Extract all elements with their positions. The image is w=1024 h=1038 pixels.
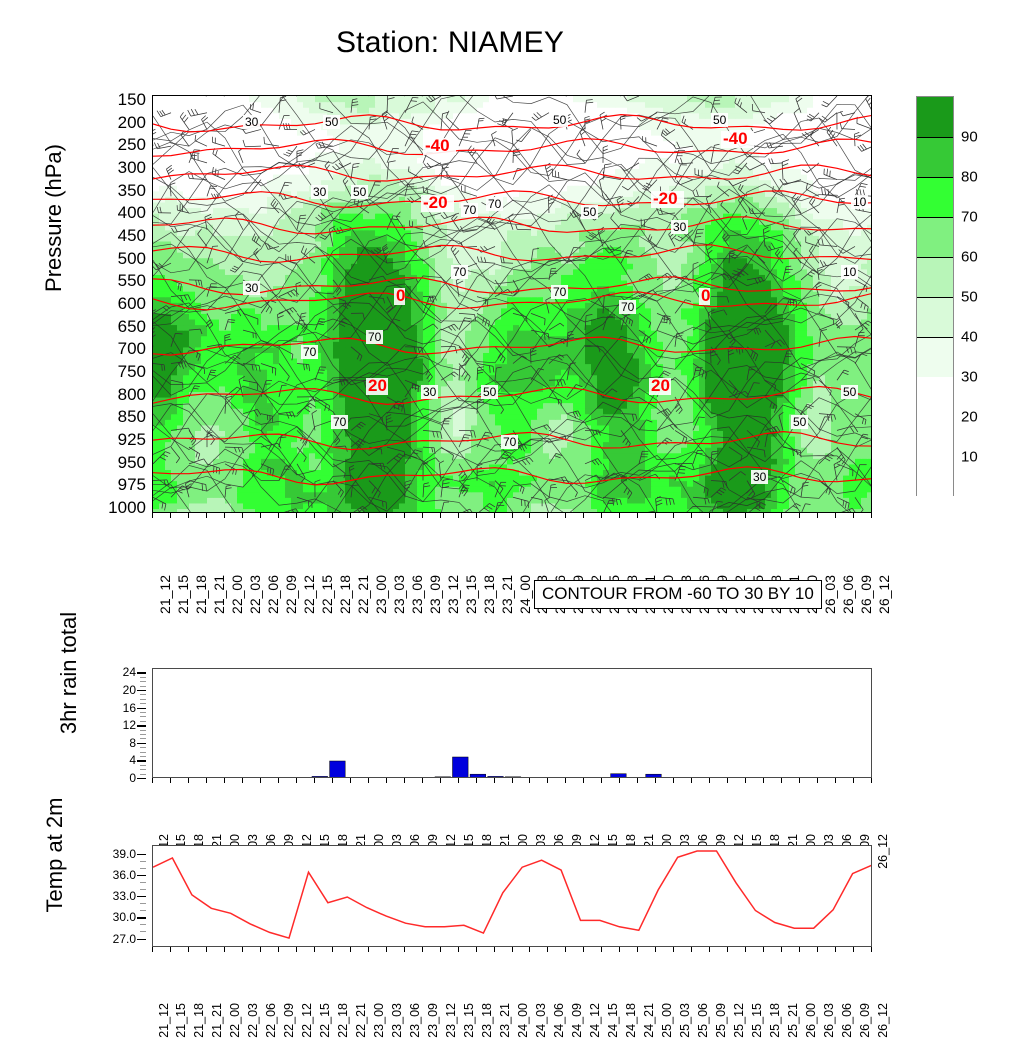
main-x-tick <box>152 513 153 518</box>
colorbar-tick-label: 40 <box>961 329 978 346</box>
temp-x-tick-label: 24_00 <box>516 1003 530 1038</box>
main-x-tick-label: 23_21 <box>499 575 515 614</box>
temp-plot-area <box>152 845 872 947</box>
rain-y-tick-label: 16 <box>123 701 136 715</box>
temp-x-tick-label: 22_15 <box>318 1003 332 1038</box>
rain-y-tick <box>137 778 146 779</box>
rain-x-tick <box>817 778 818 783</box>
temp-x-tick-label: 24_06 <box>552 1003 566 1038</box>
rain-x-tick <box>619 778 620 783</box>
main-x-tick <box>691 513 692 518</box>
main-x-tick <box>799 513 800 518</box>
temp-x-tick <box>476 947 477 952</box>
temp-x-tick <box>188 947 189 952</box>
temp-x-axis-labels: 21_1221_1521_1821_2122_0022_0322_0622_09… <box>152 947 872 1009</box>
main-y-tick-label: 300 <box>118 158 146 178</box>
rain-x-tick <box>853 778 854 783</box>
temp-x-tick-label: 24_09 <box>570 1003 584 1038</box>
main-x-tick <box>871 513 872 518</box>
main-x-tick-label: 24_00 <box>517 575 533 614</box>
temp-x-tick <box>619 947 620 952</box>
main-y-tick-label: 975 <box>118 475 146 495</box>
temp-x-tick-label: 25_00 <box>660 1003 674 1038</box>
main-y-tick-label: 650 <box>118 317 146 337</box>
rain-x-tick <box>673 778 674 783</box>
rain-x-tick <box>278 778 279 783</box>
rain-x-tick <box>781 778 782 783</box>
temp-y-tick-label: 30.0 <box>113 910 136 924</box>
rain-x-tick <box>691 778 692 783</box>
temp-y-tick-label: 36.0 <box>113 868 136 882</box>
rain-y-tick <box>137 672 146 673</box>
temp-x-tick-label: 22_06 <box>264 1003 278 1038</box>
rain-x-tick <box>152 778 153 783</box>
main-y-axis-labels: 1502002503003504004505005506006507007508… <box>60 95 146 513</box>
temp-x-tick <box>170 947 171 952</box>
main-x-axis-labels: 21_1221_1521_1821_2122_0022_0322_0622_09… <box>152 513 872 583</box>
main-x-tick <box>655 513 656 518</box>
main-x-tick <box>368 513 369 518</box>
rain-x-tick <box>655 778 656 783</box>
rain-y-tick-label: 12 <box>123 718 136 732</box>
rain-x-tick <box>529 778 530 783</box>
temp-x-tick-label: 22_12 <box>300 1003 314 1038</box>
temp-y-tick <box>137 896 146 897</box>
main-x-tick <box>494 513 495 518</box>
main-x-tick <box>835 513 836 518</box>
rain-y-minor-tick <box>140 694 146 695</box>
rain-y-tick-label: 24 <box>123 665 136 679</box>
temp-x-tick <box>512 947 513 952</box>
temp-x-tick <box>422 947 423 952</box>
main-x-tick-label: 22_15 <box>319 575 335 614</box>
temp-x-tick <box>853 947 854 952</box>
main-x-tick <box>763 513 764 518</box>
rain-y-minor-tick <box>140 716 146 717</box>
temp-x-tick <box>583 947 584 952</box>
main-x-tick <box>637 513 638 518</box>
colorbar-tick-label: 10 <box>961 449 978 466</box>
colorbar-band <box>917 457 953 497</box>
main-x-tick <box>853 513 854 518</box>
temp-x-tick <box>781 947 782 952</box>
temp-x-tick <box>206 947 207 952</box>
temp-x-tick-label: 22_03 <box>246 1003 260 1038</box>
main-x-tick-label: 23_06 <box>409 575 425 614</box>
main-x-tick <box>188 513 189 518</box>
temp-x-tick <box>368 947 369 952</box>
temp-x-tick-label: 22_09 <box>282 1003 296 1038</box>
rain-x-tick <box>188 778 189 783</box>
rain-x-tick <box>547 778 548 783</box>
rain-x-tick <box>727 778 728 783</box>
temp-y-tick <box>137 917 146 918</box>
temp-x-tick-label: 23_18 <box>480 1003 494 1038</box>
temp-x-tick <box>314 947 315 952</box>
rain-y-tick <box>137 690 146 691</box>
colorbar-tick-label: 60 <box>961 249 978 266</box>
temp-x-tick-label: 21_18 <box>192 1003 206 1038</box>
main-x-tick <box>314 513 315 518</box>
temp-x-tick-label: 25_15 <box>750 1003 764 1038</box>
rain-x-tick <box>871 778 872 783</box>
colorbar-band <box>917 417 953 457</box>
main-x-tick-label: 22_18 <box>337 575 353 614</box>
main-y-tick-label: 450 <box>118 226 146 246</box>
temp-x-tick <box>799 947 800 952</box>
temp-x-tick <box>529 947 530 952</box>
temp-x-tick-label: 24_03 <box>534 1003 548 1038</box>
temperature-chart <box>152 845 872 947</box>
main-x-tick <box>242 513 243 518</box>
temp-x-tick <box>332 947 333 952</box>
temp-x-tick-label: 22_00 <box>228 1003 242 1038</box>
rain-x-tick <box>386 778 387 783</box>
main-x-tick <box>727 513 728 518</box>
colorbar-divider <box>917 297 953 298</box>
temp-x-tick <box>152 947 153 952</box>
main-x-tick-label: 21_21 <box>211 575 227 614</box>
rain-y-tick-label: 8 <box>129 736 136 750</box>
colorbar-band <box>917 257 953 297</box>
temp-x-tick-label: 25_06 <box>696 1003 710 1038</box>
rain-x-tick <box>206 778 207 783</box>
rain-x-tick <box>637 778 638 783</box>
rain-x-tick <box>494 778 495 783</box>
temp-x-tick <box>386 947 387 952</box>
main-x-tick-label: 26_09 <box>858 575 874 614</box>
main-x-tick <box>278 513 279 518</box>
colorbar-tick-label: 50 <box>961 289 978 306</box>
main-x-tick-label: 23_09 <box>427 575 443 614</box>
rain-y-minor-tick <box>140 712 146 713</box>
rain-y-minor-tick <box>140 703 146 704</box>
temp-x-tick-label: 23_21 <box>498 1003 512 1038</box>
temp-x-tick-label: 21_12 <box>157 1003 171 1038</box>
main-x-tick <box>260 513 261 518</box>
main-x-tick-label: 23_15 <box>463 575 479 614</box>
main-x-tick-label: 26_06 <box>840 575 856 614</box>
temp-y-minor-tick <box>140 903 146 904</box>
temp-x-tick <box>637 947 638 952</box>
main-x-tick-label: 23_00 <box>373 575 389 614</box>
temp-y-tick-label: 27.0 <box>113 932 136 946</box>
rain-y-minor-tick <box>140 765 146 766</box>
rain-x-tick <box>296 778 297 783</box>
rain-chart <box>152 668 872 778</box>
main-y-tick-label: 950 <box>118 453 146 473</box>
temp-x-tick-label: 24_12 <box>588 1003 602 1038</box>
rain-x-tick <box>242 778 243 783</box>
main-x-tick-label: 22_21 <box>355 575 371 614</box>
rain-x-tick <box>332 778 333 783</box>
main-x-tick <box>817 513 818 518</box>
rain-x-tick <box>350 778 351 783</box>
main-y-tick-label: 500 <box>118 249 146 269</box>
main-x-tick <box>745 513 746 518</box>
temp-y-minor-tick <box>140 910 146 911</box>
temp-y-tick-label: 33.0 <box>113 889 136 903</box>
main-y-tick-label: 750 <box>118 362 146 382</box>
temp-x-tick <box>565 947 566 952</box>
temp-y-minor-tick <box>140 889 146 890</box>
rain-x-tick <box>368 778 369 783</box>
main-x-tick <box>332 513 333 518</box>
rain-x-tick <box>512 778 513 783</box>
rain-y-tick <box>137 725 146 726</box>
humidity-colorbar: 908070605040302010 <box>916 96 954 496</box>
main-y-tick-label: 1000 <box>108 498 146 518</box>
temp-x-tick <box>709 947 710 952</box>
temp-x-tick <box>296 947 297 952</box>
temp-x-tick <box>224 947 225 952</box>
temp-y-minor-tick <box>140 868 146 869</box>
rain-x-tick <box>440 778 441 783</box>
colorbar-tick-label: 70 <box>961 209 978 226</box>
temp-y-tick <box>137 939 146 940</box>
rain-x-tick <box>260 778 261 783</box>
main-x-tick <box>170 513 171 518</box>
rain-y-minor-tick <box>140 769 146 770</box>
temp-x-tick <box>458 947 459 952</box>
main-y-tick-label: 400 <box>118 203 146 223</box>
rain-y-tick <box>137 760 146 761</box>
main-x-tick <box>565 513 566 518</box>
colorbar-band <box>917 177 953 217</box>
temp-x-tick-label: 21_21 <box>210 1003 224 1038</box>
rain-y-tick <box>137 743 146 744</box>
temp-x-tick <box>817 947 818 952</box>
rain-x-tick <box>763 778 764 783</box>
page-title: Station: NIAMEY <box>0 26 900 60</box>
rain-x-tick <box>170 778 171 783</box>
rain-x-tick <box>799 778 800 783</box>
temp-x-tick <box>494 947 495 952</box>
rain-plot-area <box>152 668 872 778</box>
rain-x-tick-label: 26_12 <box>876 834 890 869</box>
main-x-tick <box>422 513 423 518</box>
temp-x-tick-label: 26_00 <box>804 1003 818 1038</box>
main-x-tick <box>619 513 620 518</box>
rain-y-minor-tick <box>140 752 146 753</box>
colorbar-band <box>917 337 953 377</box>
temp-x-tick-label: 24_18 <box>624 1003 638 1038</box>
main-x-tick-label: 22_09 <box>283 575 299 614</box>
temp-x-tick-label: 25_12 <box>732 1003 746 1038</box>
rain-y-minor-tick <box>140 756 146 757</box>
temp-x-tick-label: 25_18 <box>768 1003 782 1038</box>
temp-x-tick-label: 23_15 <box>462 1003 476 1038</box>
main-x-tick <box>206 513 207 518</box>
main-y-tick-label: 150 <box>118 90 146 110</box>
temp-x-tick <box>691 947 692 952</box>
rain-y-minor-tick <box>140 699 146 700</box>
temp-x-tick <box>278 947 279 952</box>
colorbar-band <box>917 297 953 337</box>
temp-x-tick-label: 22_18 <box>336 1003 350 1038</box>
colorbar-divider <box>917 257 953 258</box>
main-x-tick-label: 21_18 <box>193 575 209 614</box>
main-x-tick-label: 23_18 <box>481 575 497 614</box>
main-x-tick-label: 22_00 <box>229 575 245 614</box>
colorbar-tick-label: 80 <box>961 169 978 186</box>
rain-y-minor-tick <box>140 738 146 739</box>
colorbar-tick-label: 30 <box>961 369 978 386</box>
temp-x-tick-label: 25_09 <box>714 1003 728 1038</box>
colorbar-band <box>917 377 953 417</box>
temp-x-tick <box>655 947 656 952</box>
main-x-tick <box>547 513 548 518</box>
temp-x-tick <box>547 947 548 952</box>
rain-y-axis-labels: 04812162024 <box>60 668 146 778</box>
temp-x-tick-label: 25_21 <box>786 1003 800 1038</box>
main-x-tick-label: 21_15 <box>175 575 191 614</box>
main-y-tick-label: 250 <box>118 135 146 155</box>
main-x-tick <box>601 513 602 518</box>
main-x-tick <box>296 513 297 518</box>
main-x-tick <box>781 513 782 518</box>
main-x-tick-label: 22_03 <box>247 575 263 614</box>
colorbar-divider <box>917 337 953 338</box>
rain-y-tick <box>137 708 146 709</box>
rain-x-tick <box>422 778 423 783</box>
colorbar-divider <box>917 177 953 178</box>
rain-x-axis-labels: 21_1221_1521_1821_2122_0022_0322_0622_09… <box>152 778 872 840</box>
rain-y-tick-label: 4 <box>129 753 136 767</box>
main-y-tick-label: 800 <box>118 385 146 405</box>
rain-y-minor-tick <box>140 677 146 678</box>
temp-x-tick-label: 26_06 <box>840 1003 854 1038</box>
main-x-tick-label: 26_03 <box>822 575 838 614</box>
temp-x-tick <box>871 947 872 952</box>
main-x-tick <box>583 513 584 518</box>
temp-x-tick-label: 26_12 <box>876 1003 890 1038</box>
rain-x-tick <box>565 778 566 783</box>
main-x-tick <box>476 513 477 518</box>
temp-x-tick-label: 23_09 <box>426 1003 440 1038</box>
main-x-tick <box>386 513 387 518</box>
rain-x-tick <box>404 778 405 783</box>
main-x-tick <box>404 513 405 518</box>
temp-x-tick-label: 24_15 <box>606 1003 620 1038</box>
main-x-tick <box>458 513 459 518</box>
temp-x-tick-label: 26_03 <box>822 1003 836 1038</box>
temp-x-tick <box>440 947 441 952</box>
main-x-tick-label: 23_12 <box>445 575 461 614</box>
temp-x-tick <box>404 947 405 952</box>
rain-y-minor-tick <box>140 747 146 748</box>
temp-y-minor-tick <box>140 924 146 925</box>
main-y-tick-label: 600 <box>118 294 146 314</box>
main-plot-area: -40-40-20-200020203050505030503070705030… <box>152 95 872 513</box>
temp-x-tick-label: 22_21 <box>354 1003 368 1038</box>
colorbar-tick-label: 90 <box>961 129 978 146</box>
rain-y-tick-label: 20 <box>123 683 136 697</box>
temp-x-tick-label: 23_03 <box>390 1003 404 1038</box>
colorbar-band <box>917 137 953 177</box>
rain-y-minor-tick <box>140 734 146 735</box>
rain-x-tick <box>314 778 315 783</box>
temp-x-tick-label: 24_21 <box>642 1003 656 1038</box>
rain-y-minor-tick <box>140 730 146 731</box>
rain-x-tick <box>458 778 459 783</box>
temp-y-minor-tick <box>140 882 146 883</box>
temp-x-tick <box>763 947 764 952</box>
rain-x-tick <box>601 778 602 783</box>
rain-x-tick <box>224 778 225 783</box>
main-y-tick-label: 550 <box>118 271 146 291</box>
rain-y-minor-tick <box>140 774 146 775</box>
main-x-tick <box>512 513 513 518</box>
main-y-tick-label: 700 <box>118 339 146 359</box>
main-x-tick <box>673 513 674 518</box>
temp-x-tick-label: 21_15 <box>174 1003 188 1038</box>
rain-x-tick <box>835 778 836 783</box>
rain-x-tick <box>476 778 477 783</box>
colorbar-divider <box>917 137 953 138</box>
temp-x-tick-label: 26_09 <box>858 1003 872 1038</box>
temp-x-tick <box>727 947 728 952</box>
temp-y-axis-labels: 27.030.033.036.039.0 <box>60 845 146 947</box>
temp-x-tick <box>242 947 243 952</box>
main-x-tick-label: 21_12 <box>157 575 173 614</box>
main-x-tick-label: 23_03 <box>391 575 407 614</box>
temp-x-tick <box>260 947 261 952</box>
temp-x-tick <box>745 947 746 952</box>
rain-y-minor-tick <box>140 681 146 682</box>
main-x-tick-label: 22_06 <box>265 575 281 614</box>
main-y-tick-label: 350 <box>118 181 146 201</box>
temp-y-minor-tick <box>140 861 146 862</box>
temp-x-tick <box>350 947 351 952</box>
main-x-tick <box>224 513 225 518</box>
main-x-tick-label: 22_12 <box>301 575 317 614</box>
main-y-tick-label: 925 <box>118 430 146 450</box>
colorbar-tick-label: 20 <box>961 409 978 426</box>
temp-y-tick <box>137 854 146 855</box>
temp-x-tick <box>673 947 674 952</box>
main-y-tick-label: 850 <box>118 407 146 427</box>
colorbar-band <box>917 97 953 137</box>
rain-x-tick <box>745 778 746 783</box>
rain-y-minor-tick <box>140 686 146 687</box>
temp-y-minor-tick <box>140 931 146 932</box>
temp-x-tick <box>601 947 602 952</box>
time-height-cross-section: -40-40-20-200020203050505030503070705030… <box>152 95 872 513</box>
main-x-tick <box>709 513 710 518</box>
temp-x-tick-label: 25_03 <box>678 1003 692 1038</box>
main-x-tick <box>440 513 441 518</box>
rain-x-tick <box>583 778 584 783</box>
temp-x-tick <box>835 947 836 952</box>
temp-y-tick-label: 39.0 <box>113 847 136 861</box>
colorbar-band <box>917 217 953 257</box>
temp-y-tick <box>137 875 146 876</box>
temp-x-tick-label: 23_12 <box>444 1003 458 1038</box>
temp-x-tick-label: 23_06 <box>408 1003 422 1038</box>
colorbar-divider <box>917 217 953 218</box>
main-x-tick-label: 26_12 <box>876 575 892 614</box>
rain-y-tick-label: 0 <box>129 771 136 785</box>
main-y-tick-label: 200 <box>118 113 146 133</box>
main-x-tick <box>529 513 530 518</box>
rain-y-minor-tick <box>140 721 146 722</box>
temp-x-tick-label: 23_00 <box>372 1003 386 1038</box>
contour-legend-note: CONTOUR FROM -60 TO 30 BY 10 <box>534 580 822 609</box>
main-x-tick <box>350 513 351 518</box>
rain-x-tick <box>709 778 710 783</box>
